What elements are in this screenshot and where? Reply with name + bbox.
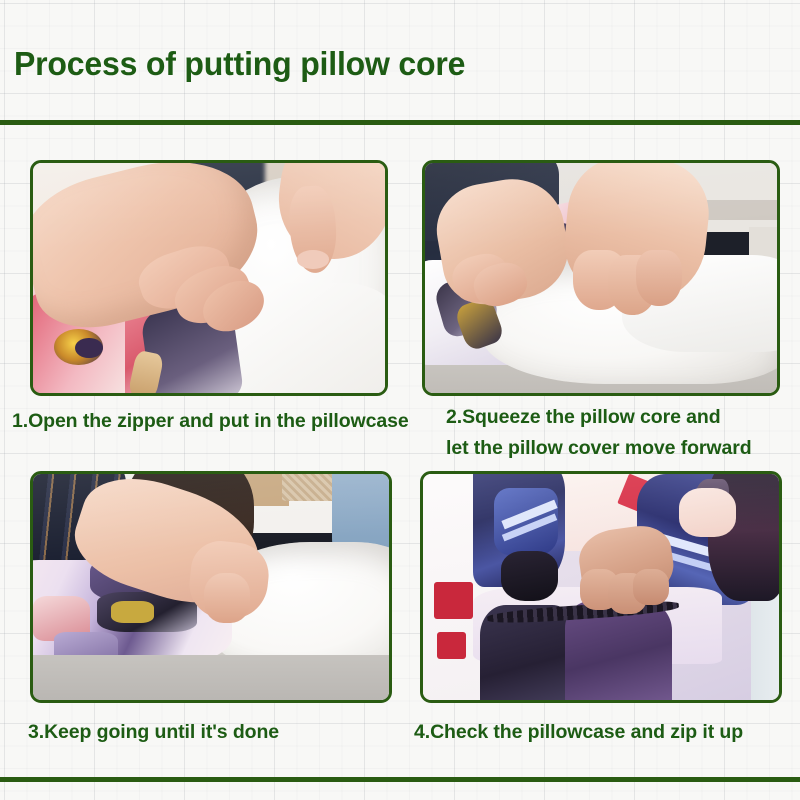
step-card-3: 3.Keep going until it's done xyxy=(30,471,392,759)
step-caption-line: 1.Open the zipper and put in the pillowc… xyxy=(12,406,388,437)
step-caption-1: 1.Open the zipper and put in the pillowc… xyxy=(12,406,388,437)
step-card-4: 4.Check the pillowcase and zip it up xyxy=(420,471,782,759)
step-caption-4: 4.Check the pillowcase and zip it up xyxy=(414,717,782,748)
page-background: Process of putting pillow core xyxy=(0,0,800,800)
step-photo-4 xyxy=(420,471,782,703)
step-card-2: 2.Squeeze the pillow core and let the pi… xyxy=(422,160,780,440)
step-photo-1 xyxy=(30,160,388,396)
steps-grid: 1.Open the zipper and put in the pillowc… xyxy=(0,0,800,800)
step-caption-line: 3.Keep going until it's done xyxy=(28,717,392,748)
step-photo-3 xyxy=(30,471,392,703)
step-caption-line: 2.Squeeze the pillow core and xyxy=(446,402,780,433)
step-card-1: 1.Open the zipper and put in the pillowc… xyxy=(30,160,388,440)
step-caption-3: 3.Keep going until it's done xyxy=(28,717,392,748)
step-caption-2: 2.Squeeze the pillow core and let the pi… xyxy=(446,402,780,464)
step-caption-line: let the pillow cover move forward xyxy=(446,433,780,464)
step-photo-2 xyxy=(422,160,780,396)
step-caption-line: 4.Check the pillowcase and zip it up xyxy=(414,717,782,748)
